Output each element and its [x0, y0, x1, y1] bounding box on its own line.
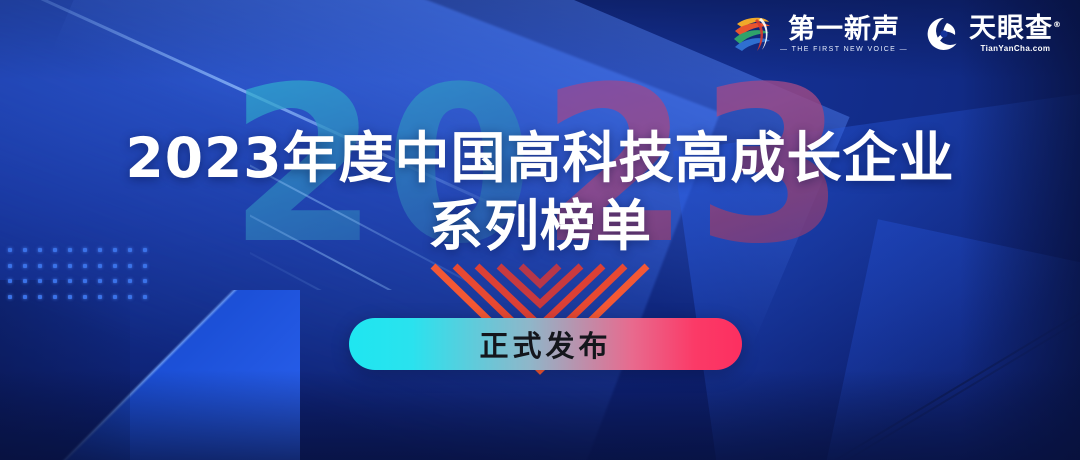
dot [113, 279, 117, 283]
headline-line-1: 2023年度中国高科技高成长企业 [0, 128, 1080, 190]
page-title: 2023年度中国高科技高成长企业 系列榜单 [0, 128, 1080, 257]
dot [98, 279, 102, 283]
logo-row: 第一新声 — THE FIRST NEW VOICE — 天眼查® TianYa… [731, 14, 1062, 54]
release-status-label: 正式发布 [479, 323, 611, 365]
logo-tianyancha-name: 天眼查® [969, 15, 1062, 42]
logo-diyixinsheng-text: 第一新声 — THE FIRST NEW VOICE — [780, 16, 908, 53]
aperture-eye-icon [926, 16, 962, 52]
dot [143, 295, 147, 299]
dot [68, 295, 72, 299]
swoosh-logo-icon [731, 14, 773, 54]
headline-line-2: 系列榜单 [0, 196, 1080, 258]
registered-trademark-icon: ® [1053, 20, 1062, 29]
dot [8, 295, 12, 299]
promo-banner: 2023 2023年度中国高科技高成长企业 系列榜单 正式发布 [0, 0, 1080, 460]
dot [38, 279, 42, 283]
logo-tianyancha-text: 天眼查® TianYanCha.com [969, 15, 1062, 53]
logo-tianyancha-name-cn: 天眼查 [969, 13, 1053, 44]
dot [53, 295, 57, 299]
dot [98, 295, 102, 299]
dot [113, 295, 117, 299]
logo-diyixinsheng-tagline: — THE FIRST NEW VOICE — [780, 46, 908, 53]
dot [23, 279, 27, 283]
dot [23, 295, 27, 299]
dot [128, 279, 132, 283]
dot [128, 295, 132, 299]
release-status-badge[interactable]: 正式发布 [349, 318, 742, 370]
logo-tianyancha[interactable]: 天眼查® TianYanCha.com [926, 15, 1062, 53]
logo-diyixinsheng-name: 第一新声 [788, 16, 900, 43]
dot [83, 279, 87, 283]
dot [68, 279, 72, 283]
logo-diyixinsheng[interactable]: 第一新声 — THE FIRST NEW VOICE — [731, 14, 908, 54]
dot [83, 295, 87, 299]
dot [53, 279, 57, 283]
dot [8, 279, 12, 283]
logo-tianyancha-tagline: TianYanCha.com [981, 44, 1051, 53]
dot [143, 279, 147, 283]
dot [38, 295, 42, 299]
